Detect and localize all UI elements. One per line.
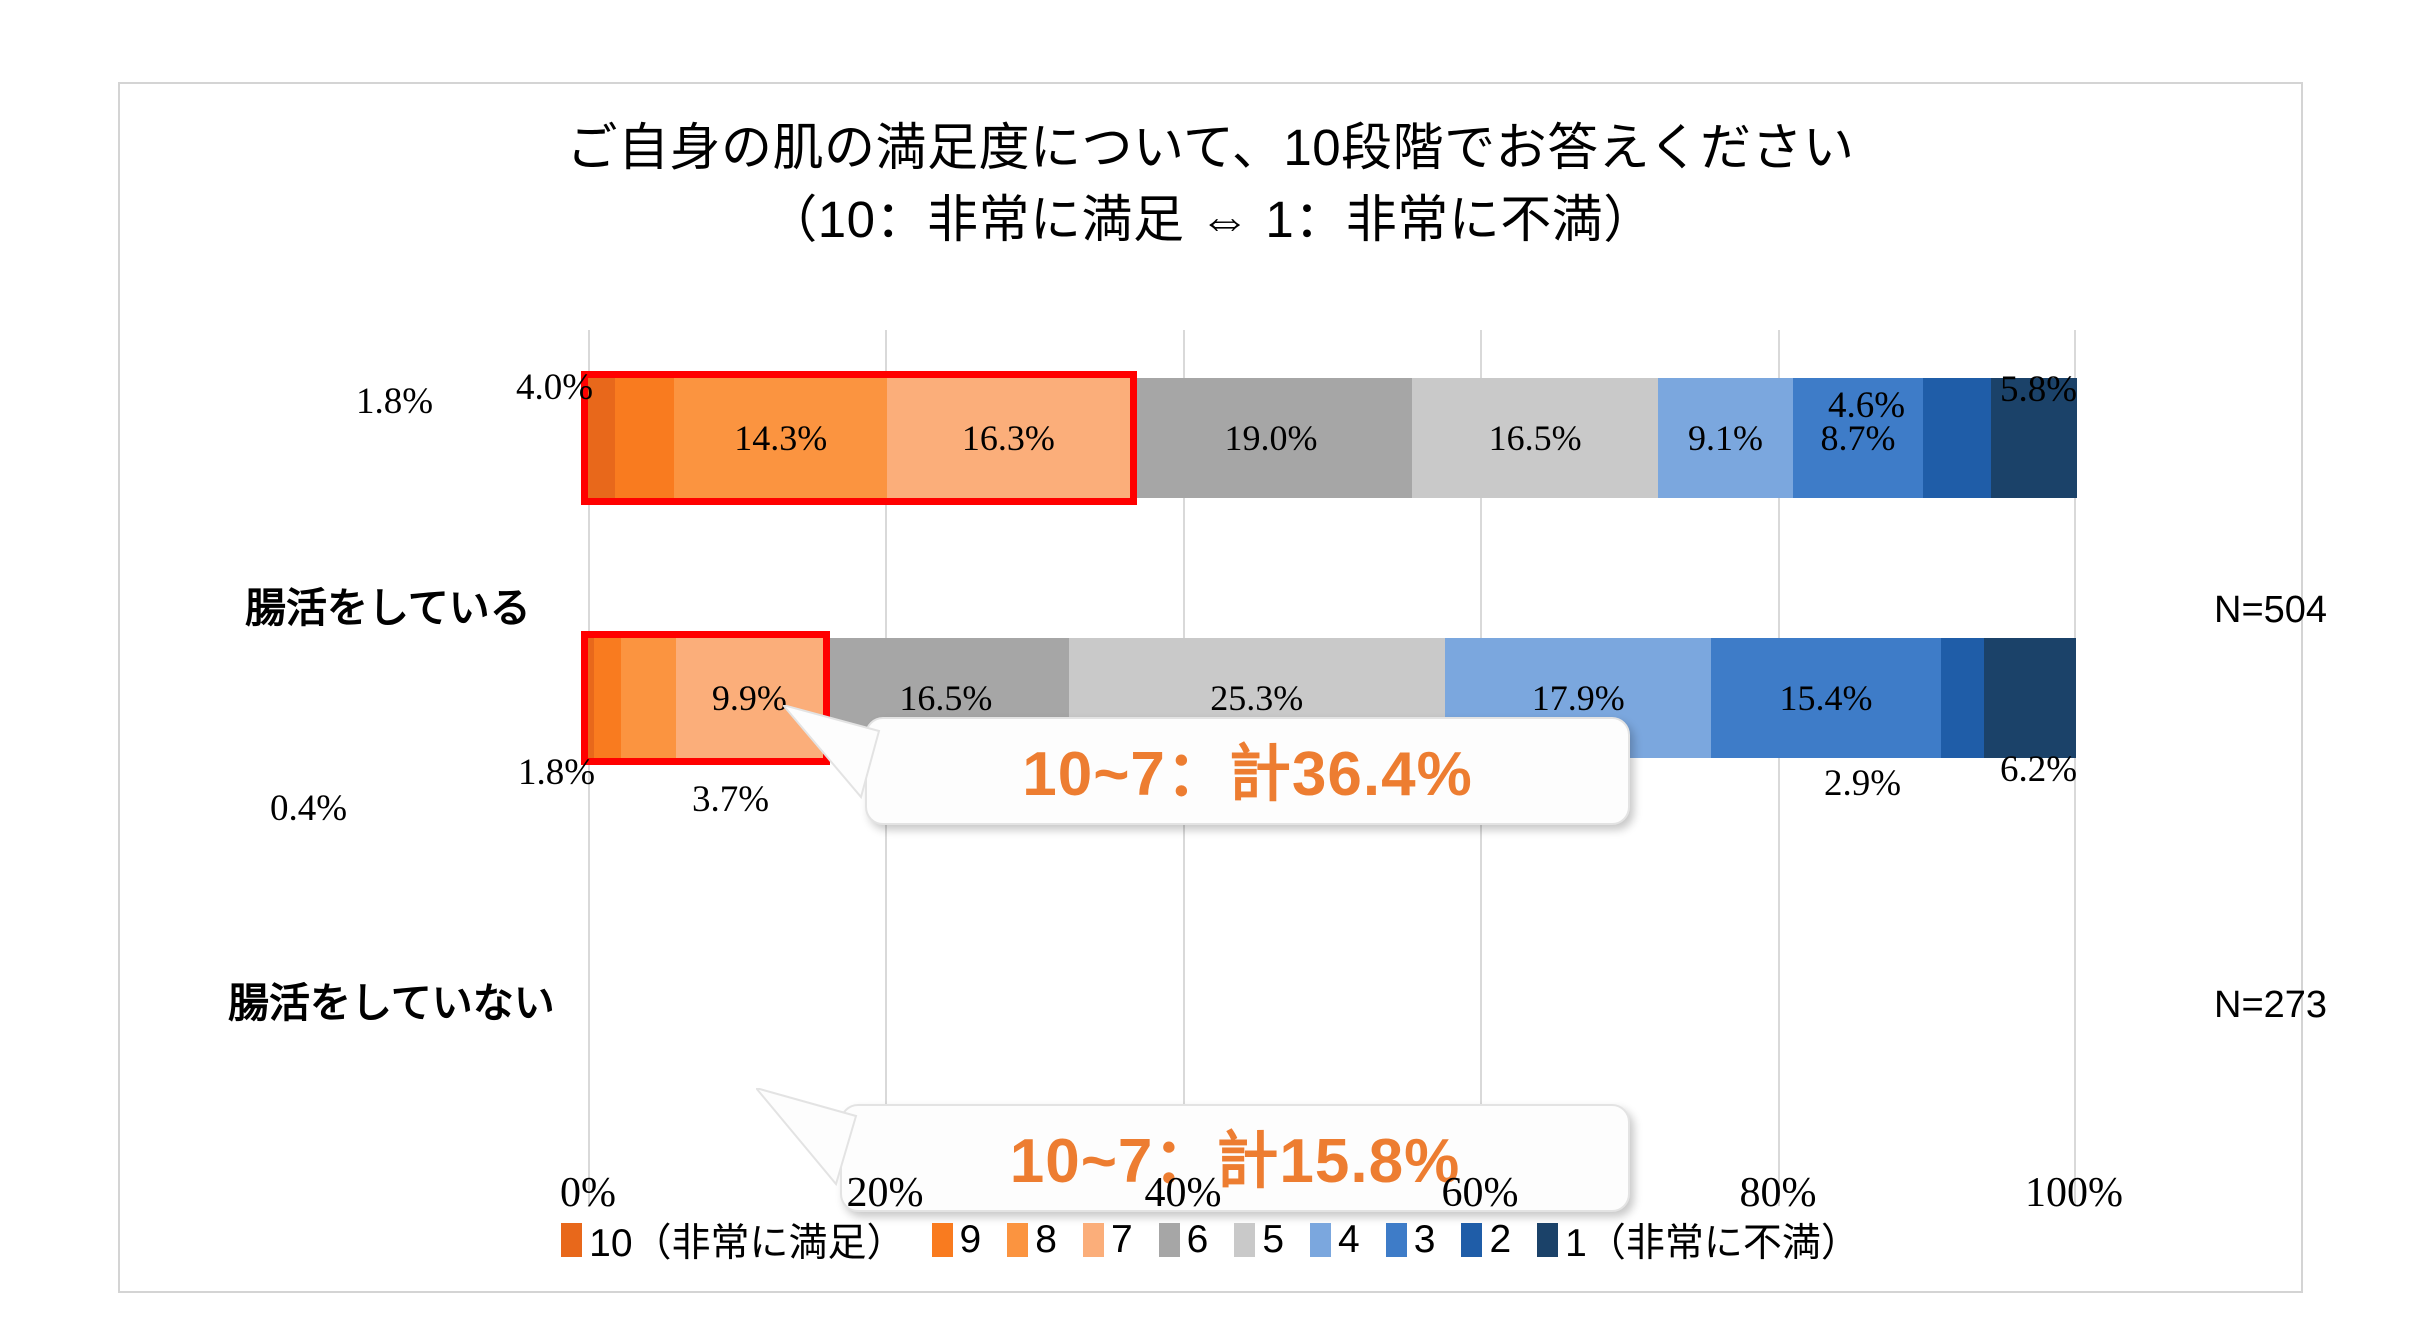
legend-swatch-icon-3 xyxy=(1386,1223,1407,1257)
bar2-segment-9[interactable] xyxy=(594,638,621,758)
bar1-segment-5[interactable]: 16.5% xyxy=(1412,378,1658,498)
bar1-segment-6[interactable]: 19.0% xyxy=(1130,378,1413,498)
chart-title-line1: ご自身の肌の満足度について、10段階でお答えください xyxy=(120,112,2301,184)
outside-label-bar2-2: 2.9% xyxy=(1824,762,1901,805)
legend-item-8[interactable]: 8 xyxy=(1007,1218,1057,1262)
legend-label-1: 1（非常に不満） xyxy=(1565,1212,1860,1268)
legend-item-2[interactable]: 2 xyxy=(1461,1218,1511,1262)
legend-label-6: 6 xyxy=(1187,1218,1209,1262)
outside-label-bar1-1: 5.8% xyxy=(2000,368,2077,411)
bar1-segment-label-5: 16.5% xyxy=(1489,417,1582,459)
xtick-80: 80% xyxy=(1740,1169,1817,1217)
bar2-segment-label-4: 17.9% xyxy=(1532,677,1625,719)
chart-title-line2: （10：非常に満足 ⇔ 1：非常に不満） xyxy=(120,184,2301,256)
legend-swatch-icon-8 xyxy=(1007,1223,1028,1257)
xtick-100: 100% xyxy=(2025,1169,2123,1217)
legend-label-9: 9 xyxy=(960,1218,982,1262)
legend-label-2: 2 xyxy=(1489,1218,1511,1262)
bar1-segment-7[interactable]: 16.3% xyxy=(887,378,1130,498)
legend-swatch-icon-7 xyxy=(1083,1223,1104,1257)
legend-swatch-icon-10 xyxy=(561,1223,582,1257)
xtick-0: 0% xyxy=(560,1169,616,1217)
bar2-segment-label-3: 15.4% xyxy=(1779,677,1872,719)
legend-label-4: 4 xyxy=(1338,1218,1360,1262)
outside-label-bar2-1: 6.2% xyxy=(2000,748,2077,791)
category-label-bar1: 腸活をしている xyxy=(245,574,531,634)
outside-label-bar2-8: 3.7% xyxy=(692,778,769,821)
chart-frame: ご自身の肌の満足度について、10段階でお答えください （10：非常に満足 ⇔ 1… xyxy=(118,82,2303,1293)
bar2-segment-3[interactable]: 15.4% xyxy=(1711,638,1940,758)
bar1-segment-9[interactable] xyxy=(615,378,675,498)
bar1-segment-8[interactable]: 14.3% xyxy=(674,378,887,498)
legend-swatch-icon-6 xyxy=(1159,1223,1180,1257)
legend-item-6[interactable]: 6 xyxy=(1159,1218,1209,1262)
legend-swatch-icon-4 xyxy=(1310,1223,1331,1257)
sample-size-bar1: N=504 xyxy=(2214,589,2327,632)
legend-swatch-icon-1 xyxy=(1537,1223,1558,1257)
outside-label-bar1-10: 1.8% xyxy=(356,380,433,423)
callout-bubble-bar1: 10~7：計36.4% xyxy=(865,717,1630,825)
legend-item-4[interactable]: 4 xyxy=(1310,1218,1360,1262)
legend-label-8: 8 xyxy=(1035,1218,1057,1262)
legend-swatch-icon-5 xyxy=(1234,1223,1255,1257)
bar1-segment-label-4: 9.1% xyxy=(1688,417,1763,459)
bar2-segment-label-6: 16.5% xyxy=(899,677,992,719)
legend-label-7: 7 xyxy=(1111,1218,1133,1262)
bar2-segment-label-7: 9.9% xyxy=(712,677,787,719)
legend-item-5[interactable]: 5 xyxy=(1234,1218,1284,1262)
legend-item-3[interactable]: 3 xyxy=(1386,1218,1436,1262)
bar2-segment-2[interactable] xyxy=(1941,638,1984,758)
legend-item-9[interactable]: 9 xyxy=(932,1218,982,1262)
legend-label-10: 10（非常に満足） xyxy=(589,1212,905,1268)
outside-label-bar2-10: 0.4% xyxy=(270,787,347,830)
bar1-segment-4[interactable]: 9.1% xyxy=(1658,378,1793,498)
bar2-segment-label-5: 25.3% xyxy=(1210,677,1303,719)
outside-label-bar1-9: 4.0% xyxy=(516,366,593,409)
callout-text-bar1: 10~7：計36.4% xyxy=(1022,723,1472,813)
xtick-20: 20% xyxy=(847,1169,924,1217)
xtick-60: 60% xyxy=(1442,1169,1519,1217)
bar2-segment-8[interactable] xyxy=(621,638,676,758)
outside-label-bar1-2: 4.6% xyxy=(1828,384,1905,427)
bar1-segment-label-6: 19.0% xyxy=(1224,417,1317,459)
legend-item-10[interactable]: 10（非常に満足） xyxy=(561,1212,905,1268)
legend-swatch-icon-2 xyxy=(1461,1223,1482,1257)
bar1-segment-2[interactable] xyxy=(1923,378,1991,498)
chart-title-block: ご自身の肌の満足度について、10段階でお答えください （10：非常に満足 ⇔ 1… xyxy=(120,112,2301,256)
chart-legend: 10（非常に満足）987654321（非常に不満） xyxy=(120,1212,2301,1268)
outside-label-bar2-9: 1.8% xyxy=(518,751,595,794)
legend-item-1[interactable]: 1（非常に不満） xyxy=(1537,1212,1860,1268)
sample-size-bar2: N=273 xyxy=(2214,984,2327,1027)
callout-tail-bar1 xyxy=(783,705,903,810)
legend-item-7[interactable]: 7 xyxy=(1083,1218,1133,1262)
category-label-bar2: 腸活をしていない xyxy=(228,969,555,1029)
legend-label-3: 3 xyxy=(1414,1218,1436,1262)
bar1-segment-label-8: 14.3% xyxy=(734,417,827,459)
bar1-segment-label-7: 16.3% xyxy=(962,417,1055,459)
bar2-segment-1[interactable] xyxy=(1984,638,2076,758)
xtick-40: 40% xyxy=(1145,1169,1222,1217)
legend-label-5: 5 xyxy=(1262,1218,1284,1262)
legend-swatch-icon-9 xyxy=(932,1223,953,1257)
